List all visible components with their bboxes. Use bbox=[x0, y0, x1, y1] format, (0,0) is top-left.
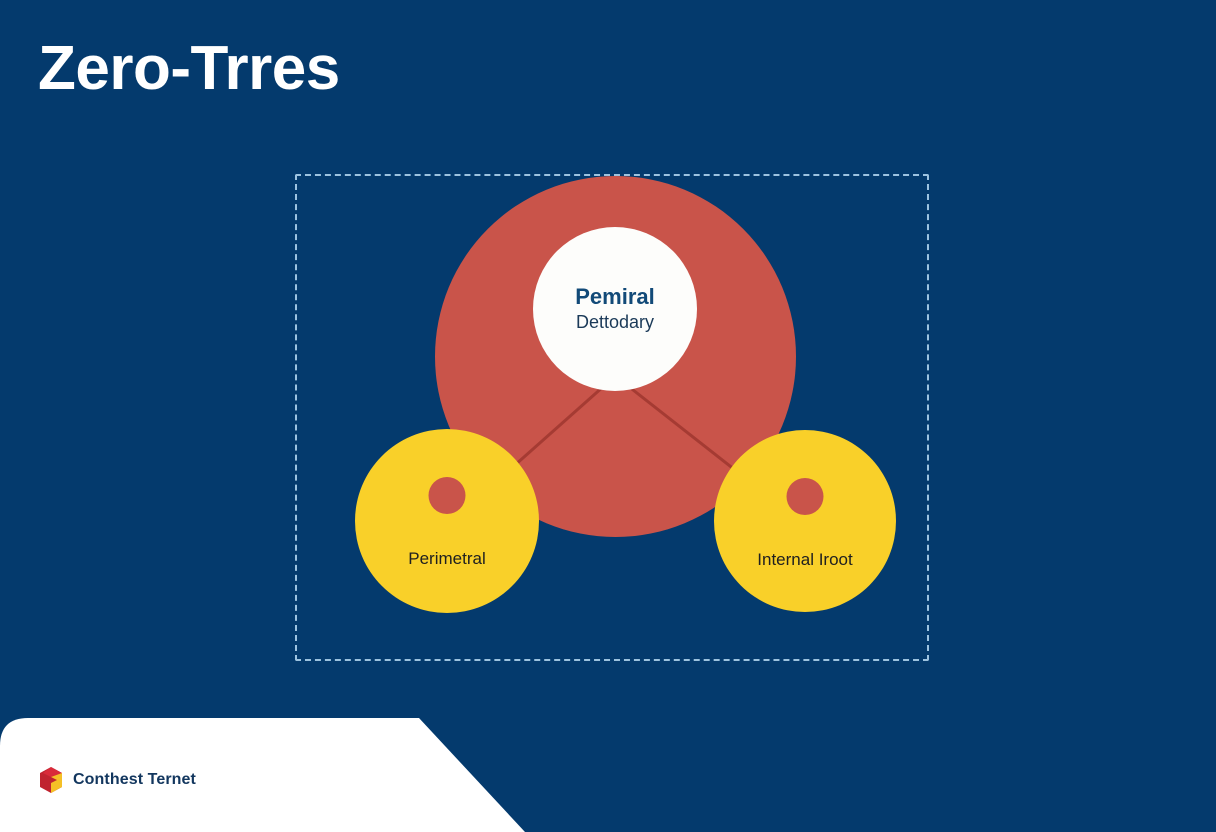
leaf-dot-icon bbox=[429, 477, 466, 514]
core-node[interactable]: Pemiral Dettodary bbox=[533, 227, 697, 391]
leaf-node-label: Perimetral bbox=[355, 549, 539, 569]
leaf-dot-icon bbox=[787, 478, 824, 515]
slide-canvas: Zero-Trres Pemiral Dettodary Perimetral … bbox=[0, 0, 1216, 832]
leaf-node-label: Internal Iroot bbox=[714, 550, 896, 570]
footer-brand[interactable]: Conthest Ternet bbox=[38, 766, 196, 794]
core-node-subtitle: Dettodary bbox=[576, 312, 654, 334]
hexagon-cube-logo bbox=[38, 766, 64, 794]
leaf-node-internal-iroot[interactable]: Internal Iroot bbox=[714, 430, 896, 612]
diagram-stage: Pemiral Dettodary Perimetral Internal Ir… bbox=[0, 0, 1216, 832]
leaf-node-perimetral[interactable]: Perimetral bbox=[355, 429, 539, 613]
core-node-title: Pemiral bbox=[575, 284, 655, 309]
brand-name: Conthest Ternet bbox=[73, 771, 196, 789]
